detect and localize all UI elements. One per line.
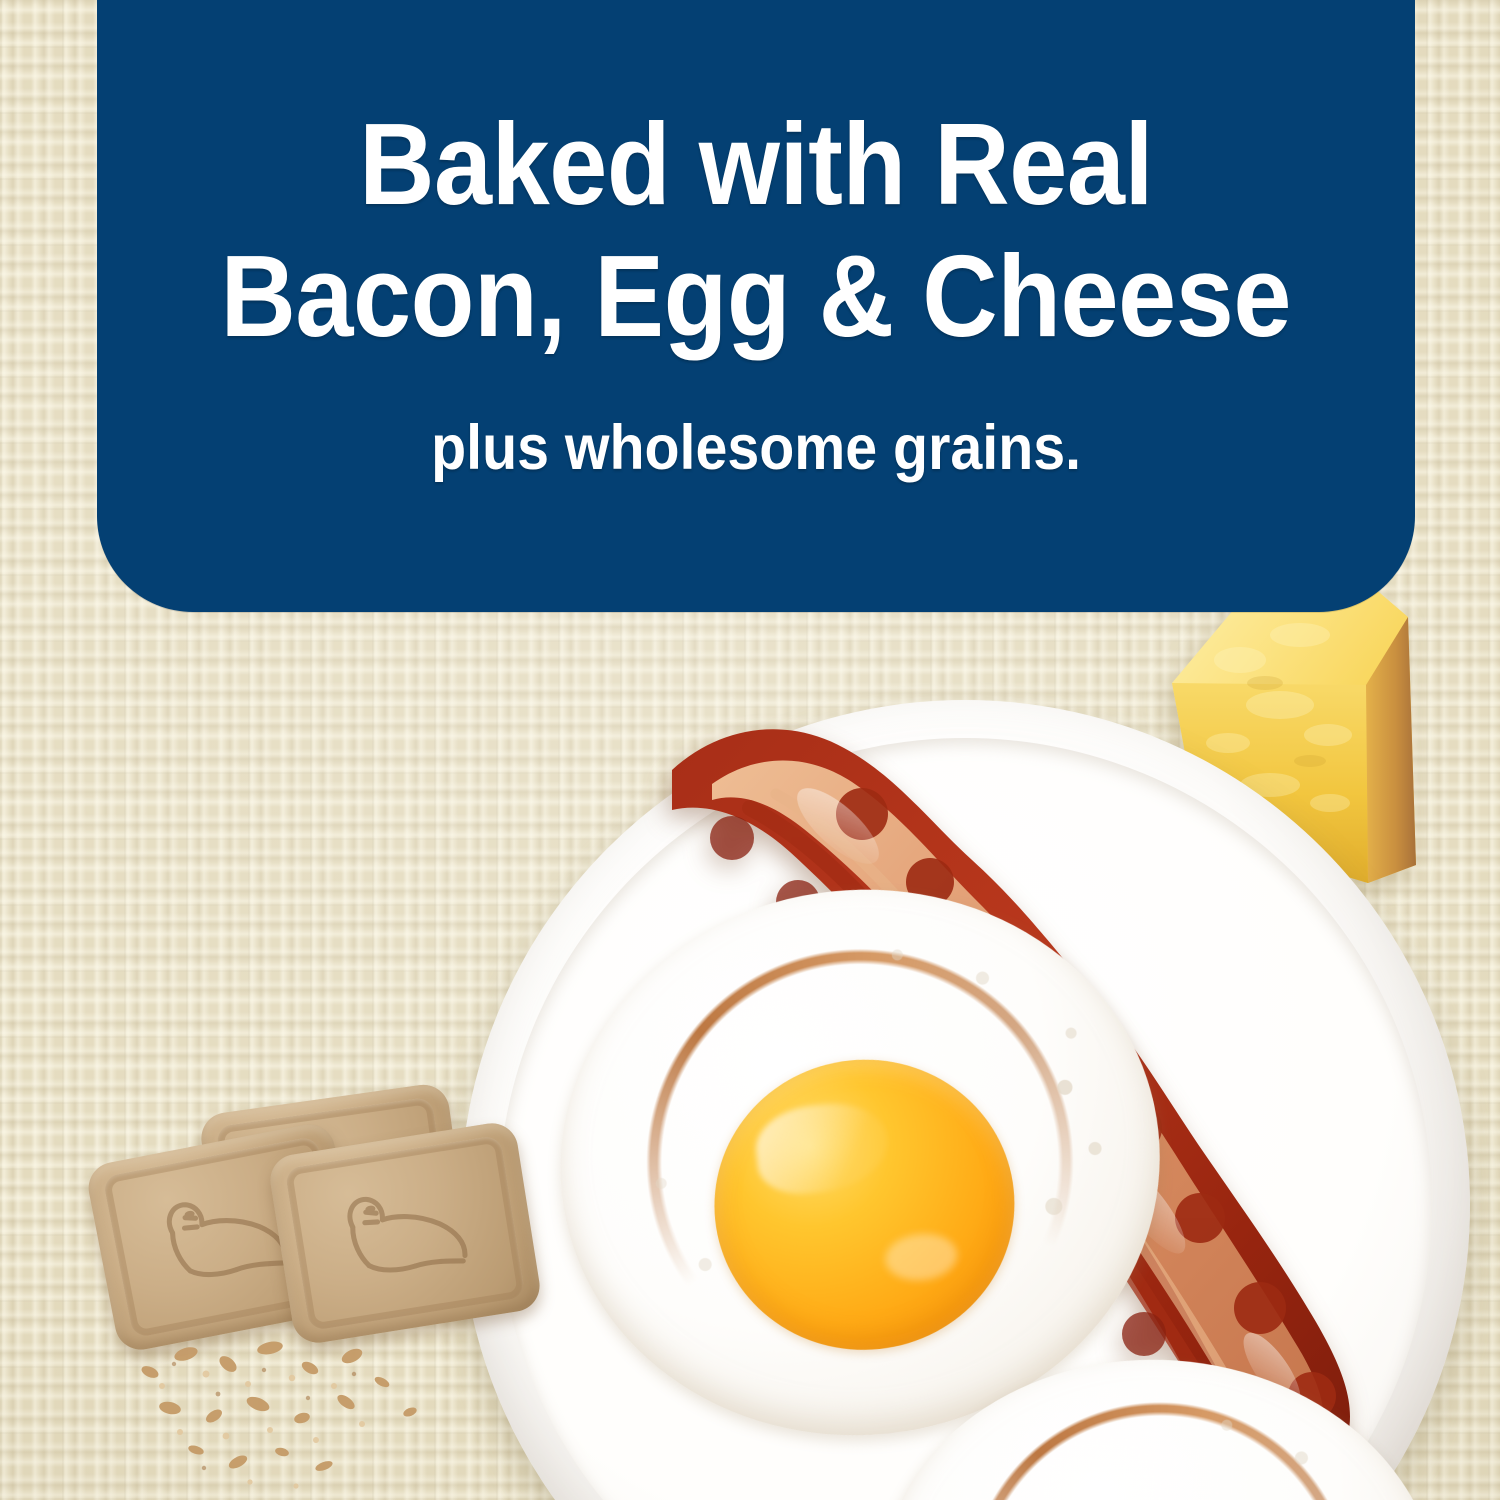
subheadline: plus wholesome grains. — [431, 417, 1081, 480]
headline-line-1: Baked with Real — [359, 108, 1153, 222]
yolk-highlight — [752, 1098, 892, 1198]
yolk-highlight-secondary — [883, 1230, 959, 1284]
dog-biscuit-3 — [267, 1120, 544, 1347]
headline-line-2: Bacon, Egg & Cheese — [221, 240, 1292, 354]
headline-banner: Baked with Real Bacon, Egg & Cheese plus… — [97, 0, 1415, 612]
biscuit-crumbs — [110, 1320, 490, 1500]
food-photograph — [0, 520, 1500, 1500]
product-feature-panel: Baked with Real Bacon, Egg & Cheese plus… — [0, 0, 1500, 1500]
biscuit-emboss-figure — [322, 1164, 493, 1301]
